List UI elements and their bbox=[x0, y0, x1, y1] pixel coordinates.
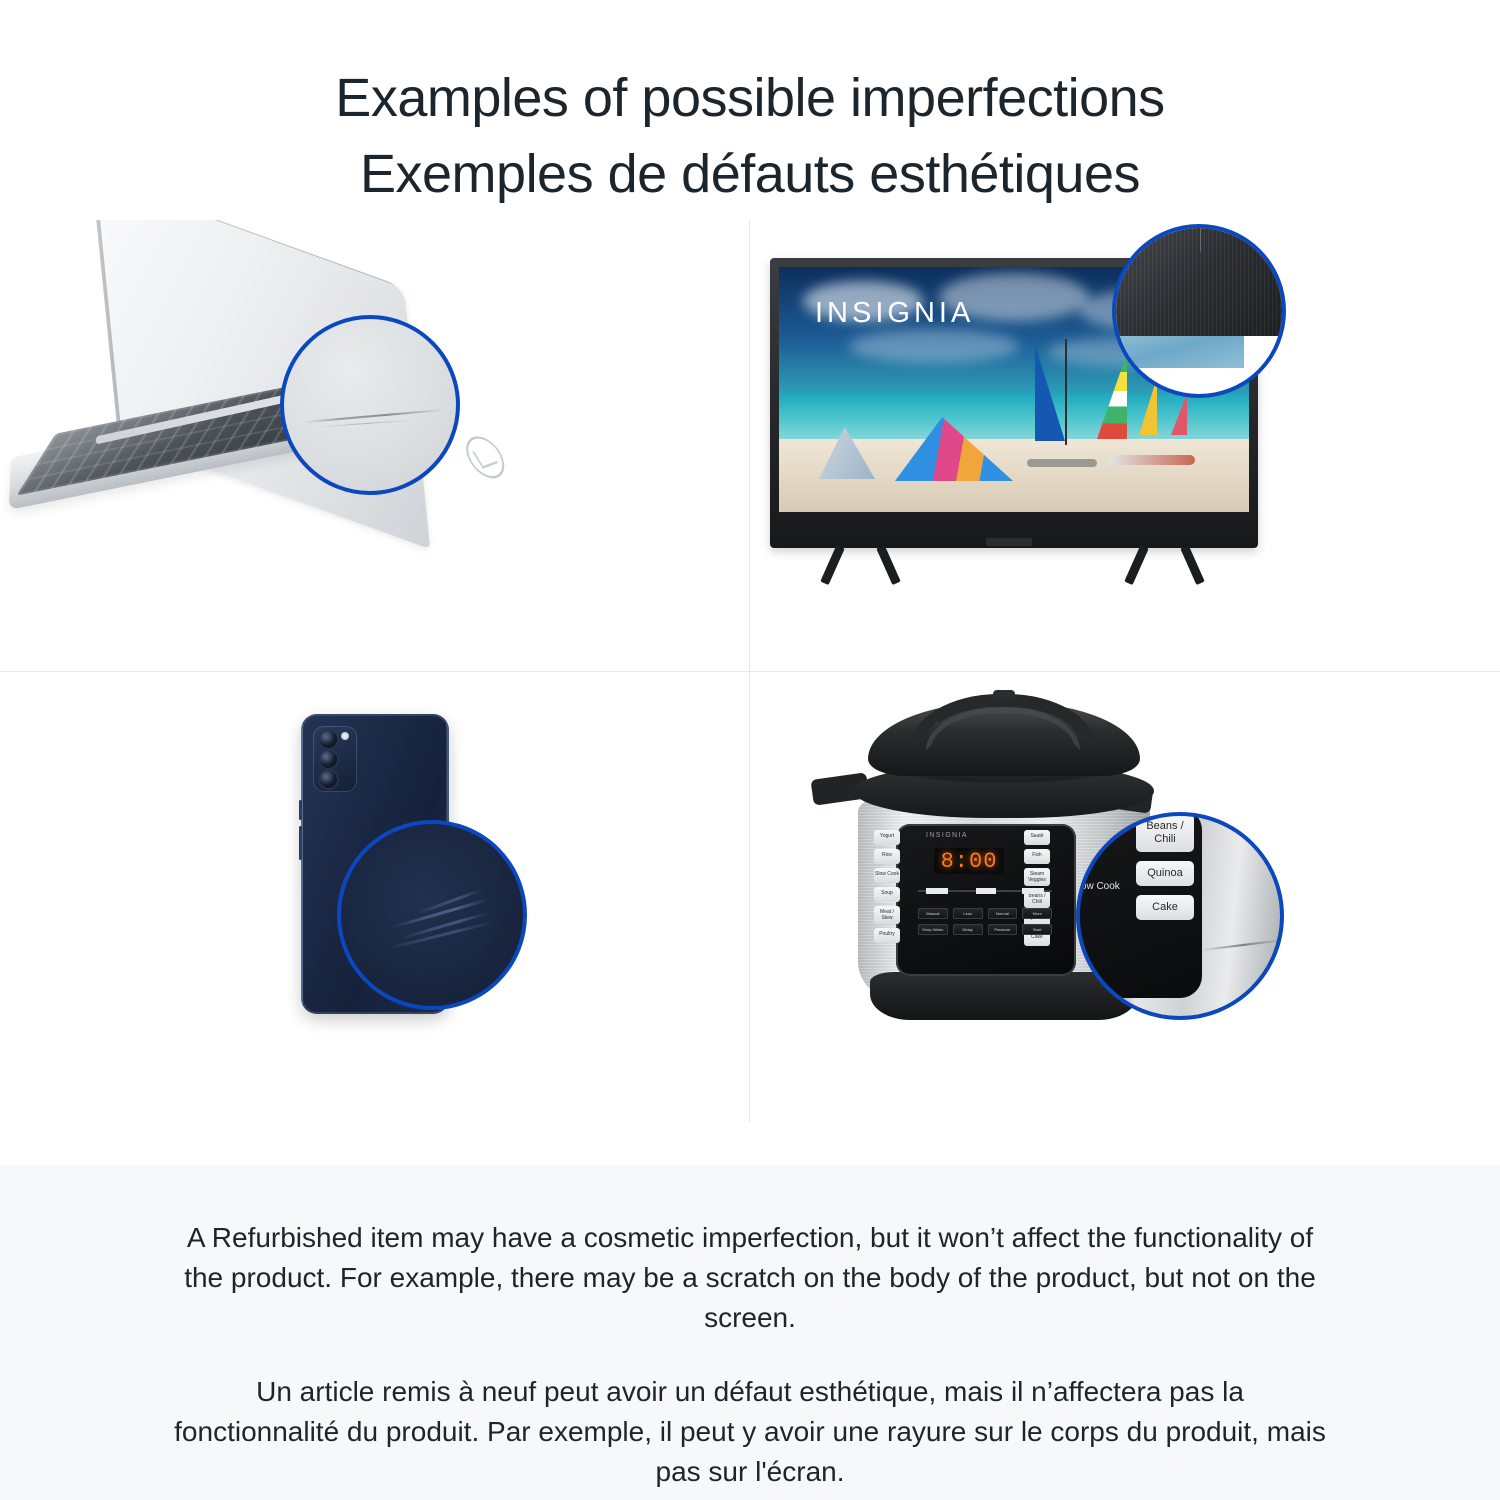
phone-volume-button[interactable] bbox=[299, 800, 302, 820]
cooker-mini-key[interactable]: Start bbox=[1022, 924, 1052, 935]
cooker-key[interactable]: Poultry bbox=[874, 928, 900, 943]
cooker-zoom-key-label: Slow Cook bbox=[1076, 881, 1120, 892]
laptop-illustration bbox=[0, 220, 749, 671]
tv-leg bbox=[1180, 545, 1204, 585]
page-title-fr: Exemples de défauts esthétiques bbox=[0, 138, 1500, 210]
cooker-key[interactable]: Slow Cook bbox=[874, 868, 900, 883]
cooker-mini-key-grid: Manual Less Normal More Keep Warm Delay … bbox=[918, 908, 1052, 935]
tv-zoom-bezel bbox=[1116, 224, 1286, 336]
cooker-key[interactable]: Yogurt bbox=[874, 830, 900, 845]
cooker-key[interactable]: Fish bbox=[1024, 849, 1050, 864]
camera-lens-icon bbox=[320, 771, 337, 788]
cooker-zoom-right-keys: Beans / Chili Quinoa Cake bbox=[1136, 814, 1194, 920]
examples-grid: INSIGNIA bbox=[0, 220, 1500, 1122]
footer-paragraph-fr: Un article remis à neuf peut avoir un dé… bbox=[170, 1372, 1330, 1492]
cooker-control-panel: INSIGNIA 8:00 Yogurt Rice Slow Cook Soup… bbox=[896, 824, 1076, 976]
cooker-steam-valve-icon[interactable] bbox=[993, 690, 1015, 699]
tv-leg bbox=[1124, 545, 1148, 585]
beach-boat bbox=[1109, 455, 1195, 465]
cooker-mini-key[interactable]: More bbox=[1022, 908, 1052, 919]
cooker-illustration: INSIGNIA 8:00 Yogurt Rice Slow Cook Soup… bbox=[750, 672, 1499, 1123]
cooker-key[interactable]: Soup bbox=[874, 887, 900, 902]
page-header: Examples of possible imperfections Exemp… bbox=[0, 0, 1500, 210]
laptop-scratch-mark-secondary bbox=[318, 420, 414, 428]
page-title-en: Examples of possible imperfections bbox=[0, 62, 1500, 134]
panel-laptop bbox=[0, 220, 749, 671]
panel-cooker: INSIGNIA 8:00 Yogurt Rice Slow Cook Soup… bbox=[750, 672, 1499, 1123]
cooker-brand-logo: INSIGNIA bbox=[926, 832, 968, 839]
sailboat-mast bbox=[1065, 339, 1067, 445]
tv-defect-magnifier bbox=[1112, 224, 1286, 398]
tv-zoom-content bbox=[1112, 224, 1286, 398]
phone-camera-module bbox=[313, 726, 357, 792]
cooker-display: 8:00 bbox=[934, 848, 1004, 874]
cooker-key[interactable]: Rice bbox=[874, 849, 900, 864]
cooker-zoom-key-label: Delay bbox=[1076, 854, 1120, 865]
cooker-mini-key[interactable]: Normal bbox=[988, 908, 1018, 919]
cooker-mini-key[interactable]: Keep Warm bbox=[918, 924, 948, 935]
tv-stand-left bbox=[822, 545, 908, 583]
laptop-scratch-mark bbox=[304, 409, 444, 423]
panel-phone bbox=[0, 672, 749, 1123]
tv-brand-logo: INSIGNIA bbox=[815, 297, 974, 330]
camera-flash-icon bbox=[341, 732, 349, 740]
cooker-key[interactable]: Sauté bbox=[1024, 830, 1050, 845]
cooker-mini-key[interactable]: Manual bbox=[918, 908, 948, 919]
cooker-mini-key[interactable]: Delay bbox=[953, 924, 983, 935]
beach-object bbox=[1027, 459, 1097, 467]
tv-leg bbox=[876, 545, 900, 585]
tv-bezel-scuff bbox=[1200, 224, 1201, 252]
phone-power-button[interactable] bbox=[299, 826, 302, 860]
tv-stand-right bbox=[1126, 545, 1212, 583]
cooker-mini-key[interactable]: Less bbox=[953, 908, 983, 919]
tv-illustration: INSIGNIA bbox=[750, 220, 1499, 671]
dell-logo-icon bbox=[461, 435, 510, 480]
tv-leg bbox=[820, 545, 844, 585]
cooker-scratch-mark bbox=[1200, 939, 1284, 951]
footer-paragraph-en: A Refurbished item may have a cosmetic i… bbox=[170, 1218, 1330, 1338]
sailboat-sail bbox=[1035, 345, 1065, 441]
tv-brand-badge bbox=[986, 538, 1032, 546]
cooker-zoom-key[interactable]: Beans / Chili bbox=[1136, 814, 1194, 852]
cooker-zoom-key[interactable]: Cake bbox=[1136, 895, 1194, 920]
cooker-left-key-column: Yogurt Rice Slow Cook Soup Meat / Stew P… bbox=[874, 830, 900, 943]
cloud-shape bbox=[849, 329, 1019, 363]
phone-defect-magnifier bbox=[337, 820, 527, 1010]
panel-tv: INSIGNIA bbox=[750, 220, 1499, 671]
cooker-zoom-panel: Delay Slow Cook Beans / Chili Quinoa Cak… bbox=[1076, 812, 1202, 998]
cooker-key[interactable]: Meat / Stew bbox=[874, 906, 900, 924]
phone-illustration bbox=[0, 672, 749, 1123]
footer-note: A Refurbished item may have a cosmetic i… bbox=[0, 1166, 1500, 1500]
cooker-zoom-key[interactable]: Quinoa bbox=[1136, 861, 1194, 886]
camera-lens-icon bbox=[320, 751, 337, 768]
slider-track-icon bbox=[918, 887, 1052, 895]
laptop-defect-magnifier bbox=[280, 315, 460, 495]
cooker-zoom-left-keys: Delay Slow Cook bbox=[1076, 854, 1120, 892]
cooker-defect-magnifier: Delay Slow Cook Beans / Chili Quinoa Cak… bbox=[1076, 812, 1284, 1020]
cooker-mini-key[interactable]: Pressure bbox=[988, 924, 1018, 935]
camera-lens-icon bbox=[320, 731, 337, 748]
cooker-pressure-slider bbox=[918, 882, 1052, 890]
